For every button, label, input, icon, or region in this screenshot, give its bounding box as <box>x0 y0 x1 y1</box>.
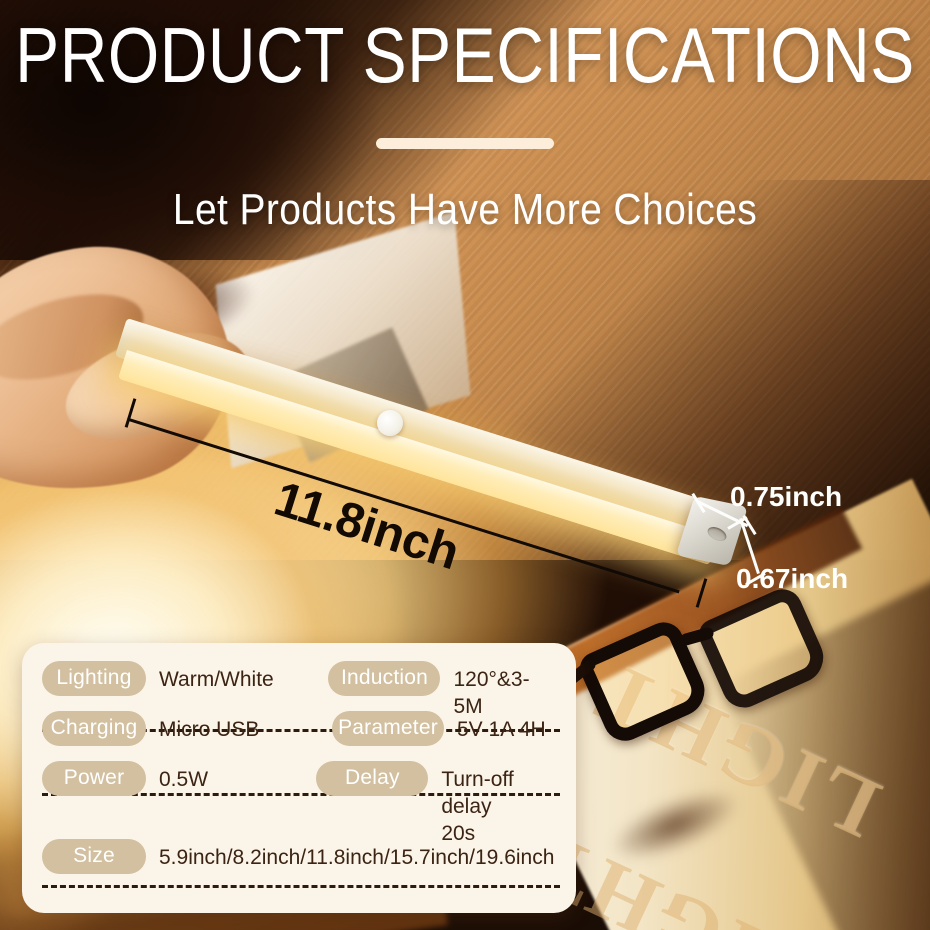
page-subtitle: Let Products Have More Choices <box>0 186 930 230</box>
motion-sensor-icon <box>377 410 403 436</box>
spec-value-delay: Turn-off delay 20s <box>441 761 556 848</box>
spec-label-induction: Induction <box>328 661 440 696</box>
spec-cell-lighting: Lighting Warm/White <box>42 661 328 696</box>
height-label: 0.67inch <box>736 563 848 595</box>
spec-cell-delay: Delay Turn-off delay 20s <box>316 761 556 848</box>
spec-cell-parameter: Parameter 5V 1A 4H <box>332 711 546 746</box>
spec-value-power: 0.5W <box>159 761 208 794</box>
product-spec-image: LIGHT LIGHT 11.8inch 0.75inch 0.67inch P… <box>0 0 930 930</box>
spec-label-charging: Charging <box>42 711 146 746</box>
spec-label-lighting: Lighting <box>42 661 146 696</box>
width-label: 0.75inch <box>730 481 842 513</box>
spec-value-lighting: Warm/White <box>159 661 274 694</box>
spec-cell-size: Size 5.9inch/8.2inch/11.8inch/15.7inch/1… <box>42 839 554 874</box>
spec-row-power: Power 0.5W Delay Turn-off delay 20s <box>42 761 556 839</box>
spec-value-charging: Micro USB <box>159 711 259 744</box>
spec-label-power: Power <box>42 761 146 796</box>
spec-label-parameter: Parameter <box>332 711 444 746</box>
spec-row-size: Size 5.9inch/8.2inch/11.8inch/15.7inch/1… <box>42 839 556 887</box>
page-title: PRODUCT SPECIFICATIONS <box>0 16 930 82</box>
spec-label-size: Size <box>42 839 146 874</box>
spec-label-delay: Delay <box>316 761 428 796</box>
page-title-text: PRODUCT SPECIFICATIONS <box>15 16 915 94</box>
spec-cell-charging: Charging Micro USB <box>42 711 332 746</box>
spec-row-charging: Charging Micro USB Parameter 5V 1A 4H <box>42 711 556 761</box>
spec-row-lighting: Lighting Warm/White Induction 120°&3-5M <box>42 661 556 711</box>
page-subtitle-text: Let Products Have More Choices <box>173 186 757 235</box>
spec-cell-power: Power 0.5W <box>42 761 316 796</box>
specification-card: Lighting Warm/White Induction 120°&3-5M … <box>22 643 576 913</box>
spec-value-parameter: 5V 1A 4H <box>457 711 546 744</box>
title-divider <box>376 138 554 149</box>
spec-value-size: 5.9inch/8.2inch/11.8inch/15.7inch/19.6in… <box>159 839 554 872</box>
